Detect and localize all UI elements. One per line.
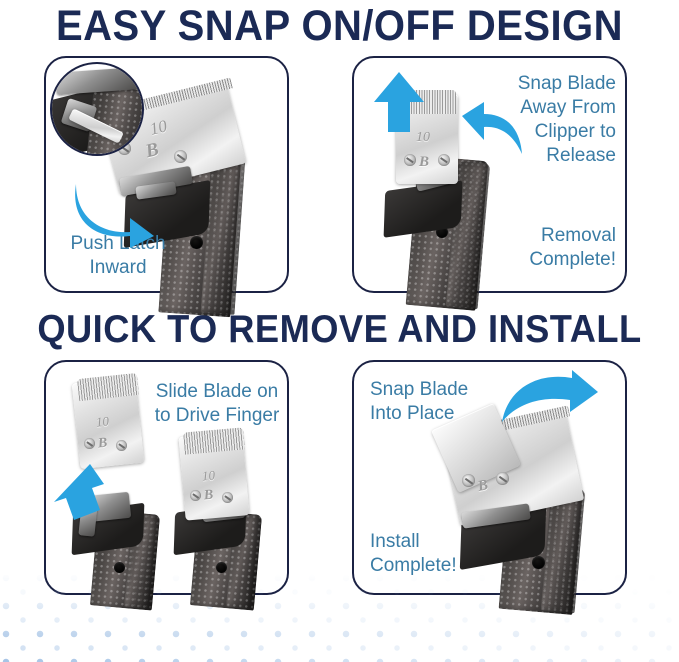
panel-4-artwork: B Snap Blade Into Place Install Complete… bbox=[354, 362, 625, 593]
clipper-screw-hole-right bbox=[216, 562, 227, 573]
panel-1-artwork: 10 B bbox=[46, 58, 287, 291]
clipper-screw-hole bbox=[532, 556, 545, 569]
blade-screw-left bbox=[404, 154, 416, 166]
blade-screw-right bbox=[438, 154, 450, 166]
step-panel-slide-blade: 10 B 10 B bbox=[44, 360, 289, 595]
blade-screw-right-a bbox=[190, 490, 201, 501]
panel-4-caption: Snap Blade Into Place bbox=[370, 378, 520, 426]
step-panel-snap-into-place: B Snap Blade Into Place Install Complete… bbox=[352, 360, 627, 595]
blade-screw-left bbox=[462, 474, 475, 487]
panel-4-caption-secondary: Install Complete! bbox=[370, 530, 520, 578]
arrow-snap-away bbox=[458, 102, 524, 162]
detail-inset-circle bbox=[50, 62, 144, 156]
page-title-primary: EASY SNAP ON/OFF DESIGN bbox=[24, 2, 655, 51]
panel-3-caption: Slide Blade on to Drive Finger bbox=[144, 380, 290, 428]
detail-inset-content bbox=[50, 62, 144, 156]
panel-2-caption-secondary: Removal Complete! bbox=[470, 224, 616, 272]
page-title-secondary: QUICK TO REMOVE AND INSTALL bbox=[24, 308, 655, 352]
step-panel-snap-away: 10 B Snap Blade Away From Clipper to Rel… bbox=[352, 56, 627, 293]
arrow-push-latch bbox=[70, 176, 156, 248]
arrow-lift-up bbox=[372, 72, 426, 132]
blade-screw-right bbox=[174, 150, 187, 163]
arrow-slide-down bbox=[50, 462, 106, 524]
arrow-snap-into-place bbox=[500, 370, 600, 434]
panel-2-artwork: 10 B Snap Blade Away From Clipper to Rel… bbox=[354, 58, 625, 291]
infographic-canvas: EASY SNAP ON/OFF DESIGN 10 B bbox=[0, 0, 679, 662]
clipper-screw-hole bbox=[190, 236, 203, 249]
blade-screw-right-b bbox=[222, 492, 233, 503]
blade-screw-right bbox=[496, 472, 509, 485]
panel-3-artwork: 10 B 10 B bbox=[46, 362, 287, 593]
step-panel-push-latch: 10 B bbox=[44, 56, 289, 293]
